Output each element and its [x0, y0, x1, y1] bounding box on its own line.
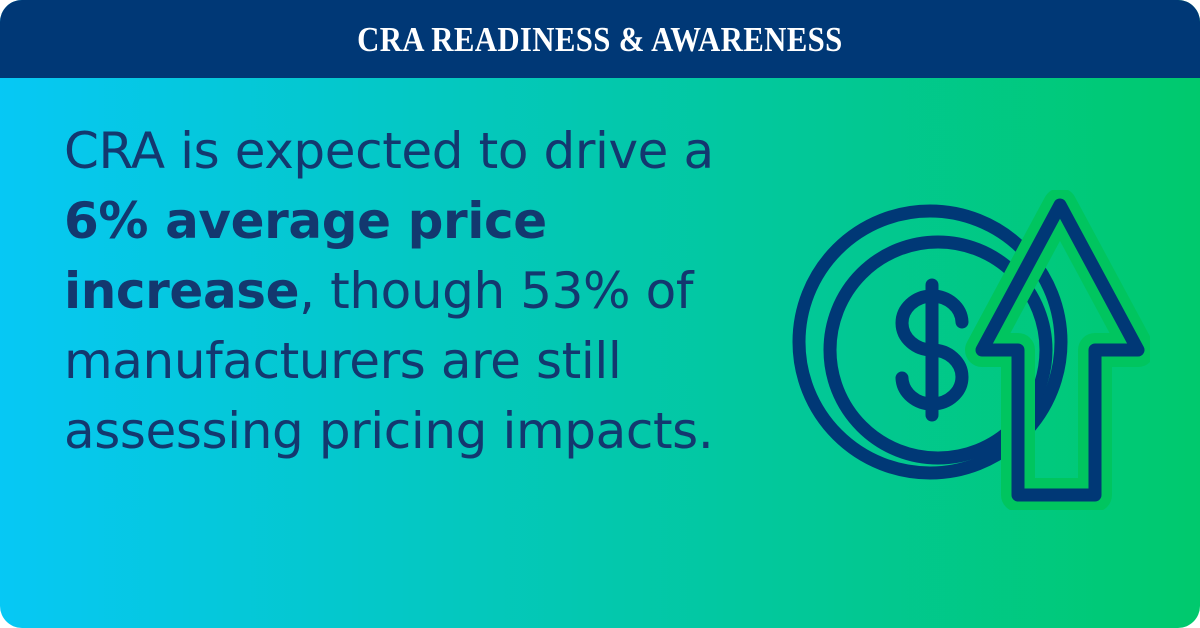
page-title: CRA READINESS & AWARENESS	[357, 22, 842, 57]
header-bar: CRA READINESS & AWARENESS	[0, 0, 1200, 78]
infographic-card: CRA READINESS & AWARENESS CRA is expecte…	[0, 0, 1200, 628]
dollar-coin-up-arrow-icon	[790, 190, 1150, 510]
statement-text: CRA is expected to drive a 6% average pr…	[64, 116, 764, 466]
statement-lead: CRA is expected to drive a	[64, 122, 714, 180]
